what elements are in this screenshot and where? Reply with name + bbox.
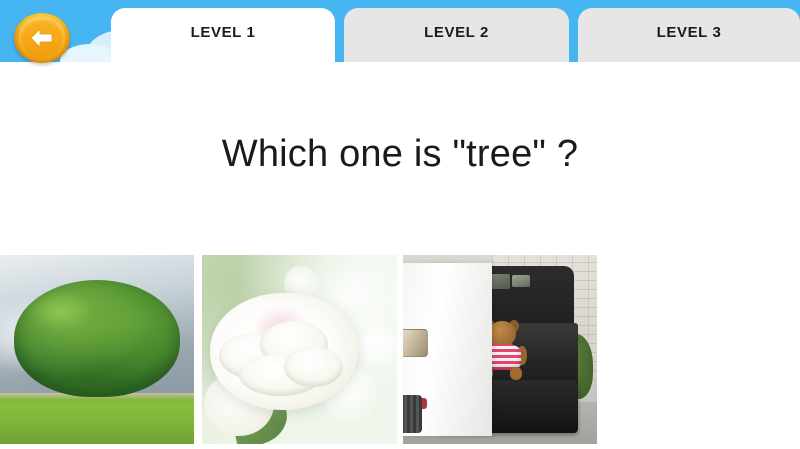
back-arrow-icon [29,27,55,49]
branch-photo [608,255,800,444]
teddy-leg [510,367,522,381]
tab-level-3-label: LEVEL 3 [657,24,722,41]
car-tyre [403,395,422,433]
tree-photo [0,255,194,444]
tab-level-2-label: LEVEL 2 [424,24,489,41]
back-button[interactable] [14,13,70,63]
answer-option-flower[interactable] [202,255,397,444]
tab-level-1-label: LEVEL 1 [191,24,256,41]
flower-head [210,293,358,410]
tree-grass [0,393,194,444]
car-boot-photo [403,255,597,444]
question-text: Which one is "tree" ? [0,133,800,176]
answer-options-row [0,255,800,444]
bokeh-circle [358,327,397,367]
answer-option-tree[interactable] [0,255,194,444]
answer-option-car-boot[interactable] [403,255,597,444]
car-taillight [403,329,428,357]
tree-canopy [14,280,181,397]
answer-option-branch[interactable] [608,255,800,444]
tab-level-2[interactable]: LEVEL 2 [344,8,569,62]
tab-level-1[interactable]: LEVEL 1 [111,8,335,62]
branch-background [608,255,800,444]
car-window [512,275,530,287]
tab-level-3[interactable]: LEVEL 3 [578,8,800,62]
flower-petal [284,347,343,387]
car-rear-body [403,263,492,437]
flower-photo [202,255,397,444]
